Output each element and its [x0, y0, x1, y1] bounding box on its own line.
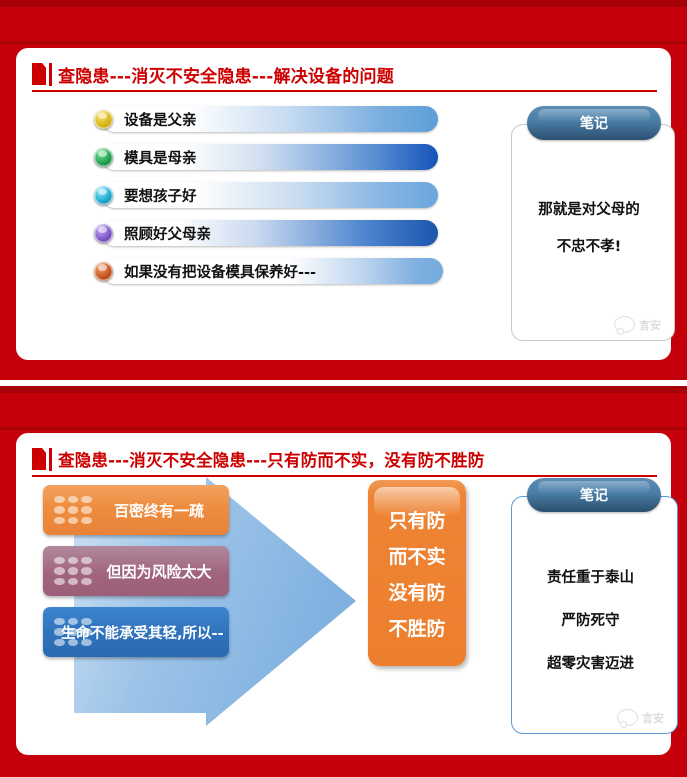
notes-line: 不忠不孝!: [503, 235, 675, 256]
slide-deck: 查隐患---消灭不安全隐患---解决设备的问题 设备是父亲 模具是母亲: [0, 0, 687, 777]
page-flag-icon: [32, 63, 46, 85]
pill-1: 设备是父亲: [102, 106, 438, 132]
slide-2-title-row: 查隐患---消灭不安全隐患---只有防而不实，没有防不胜防: [32, 444, 659, 474]
slide-1-top-band: [0, 0, 687, 7]
list-item[interactable]: 百密终有一疏: [43, 485, 229, 535]
slide-1-title: 查隐患---消灭不安全隐患---解决设备的问题: [58, 62, 394, 87]
callout-line: 而不实: [388, 542, 445, 569]
slide-1-notes-lines: 那就是对父母的 不忠不孝!: [503, 198, 675, 272]
slide-2-canvas: 查隐患---消灭不安全隐患---只有防而不实，没有防不胜防: [16, 433, 671, 755]
pill-3-label: 要想孩子好: [124, 185, 197, 206]
pill-2-label: 模具是母亲: [124, 147, 197, 168]
slide-1-notes-panel: 笔记 那就是对父母的 不忠不孝! 言安: [503, 106, 675, 341]
slide-1-pill-list: 设备是父亲 模具是母亲 要想孩子好: [94, 106, 443, 296]
callout-line: 只有防: [388, 506, 445, 533]
slide-2-notes-lines: 责任重于泰山 严防死守 超零灾害迈进: [503, 566, 678, 695]
slide-2-title: 查隐患---消灭不安全隐患---只有防而不实，没有防不胜防: [58, 447, 484, 471]
page-flag-icon: [32, 448, 46, 470]
bullet-sphere-icon: [94, 148, 113, 167]
pill-5: 如果没有把设备模具保养好---: [102, 258, 443, 284]
notes-line: 那就是对父母的: [503, 198, 675, 219]
callout-line: 不胜防: [388, 614, 445, 641]
bullet-sphere-icon: [94, 186, 113, 205]
notes-line: 严防死守: [503, 609, 678, 630]
slide-2-top-band: [0, 386, 687, 393]
list-item[interactable]: 但因为风险太大: [43, 546, 229, 596]
box-3-label: 生命不能承受其轻,所以--: [61, 622, 229, 643]
bullet-sphere-icon: [94, 224, 113, 243]
slide-1-title-row: 查隐患---消灭不安全隐患---解决设备的问题: [32, 59, 659, 89]
slide-2-notes-header-label: 笔记: [580, 485, 608, 505]
slide-1-notes-header: 笔记: [527, 106, 661, 140]
list-item[interactable]: 要想孩子好: [94, 182, 443, 208]
pill-1-label: 设备是父亲: [124, 109, 197, 130]
box-1-label: 百密终有一疏: [95, 500, 229, 521]
list-item[interactable]: 生命不能承受其轻,所以--: [43, 607, 229, 657]
slide-1-title-underline: [32, 90, 657, 92]
list-item[interactable]: 照顾好父母亲: [94, 220, 443, 246]
pill-4-label: 照顾好父母亲: [124, 223, 211, 244]
list-item[interactable]: 如果没有把设备模具保养好---: [94, 258, 443, 284]
slide-2: 查隐患---消灭不安全隐患---只有防而不实，没有防不胜防: [0, 386, 687, 777]
slide-1-canvas: 查隐患---消灭不安全隐患---解决设备的问题 设备是父亲 模具是母亲: [16, 48, 671, 360]
slide-2-notes-panel: 笔记 责任重于泰山 严防死守 超零灾害迈进 言安: [503, 478, 678, 734]
slide-2-top-band-accent: [0, 427, 687, 430]
notes-line: 超零灾害迈进: [503, 652, 678, 673]
title-divider-bar: [49, 63, 52, 86]
slide-1: 查隐患---消灭不安全隐患---解决设备的问题 设备是父亲 模具是母亲: [0, 0, 687, 380]
pill-4: 照顾好父母亲: [102, 220, 438, 246]
pill-3: 要想孩子好: [102, 182, 438, 208]
dot-grid-icon: [51, 493, 95, 527]
dot-grid-icon: [51, 554, 95, 588]
list-item[interactable]: 设备是父亲: [94, 106, 443, 132]
slide-1-top-band-accent: [0, 41, 687, 44]
slide-2-callout: 只有防 而不实 没有防 不胜防: [368, 480, 466, 666]
pill-2: 模具是母亲: [102, 144, 438, 170]
callout-line: 没有防: [388, 578, 445, 605]
title-divider-bar: [49, 448, 52, 471]
slide-2-notes-header: 笔记: [527, 478, 661, 512]
bullet-sphere-icon: [94, 262, 113, 281]
slide-1-notes-header-label: 笔记: [580, 113, 608, 133]
pill-5-label: 如果没有把设备模具保养好---: [124, 261, 316, 282]
list-item[interactable]: 模具是母亲: [94, 144, 443, 170]
box-2-label: 但因为风险太大: [95, 561, 229, 582]
bullet-sphere-icon: [94, 110, 113, 129]
notes-line: 责任重于泰山: [503, 566, 678, 587]
